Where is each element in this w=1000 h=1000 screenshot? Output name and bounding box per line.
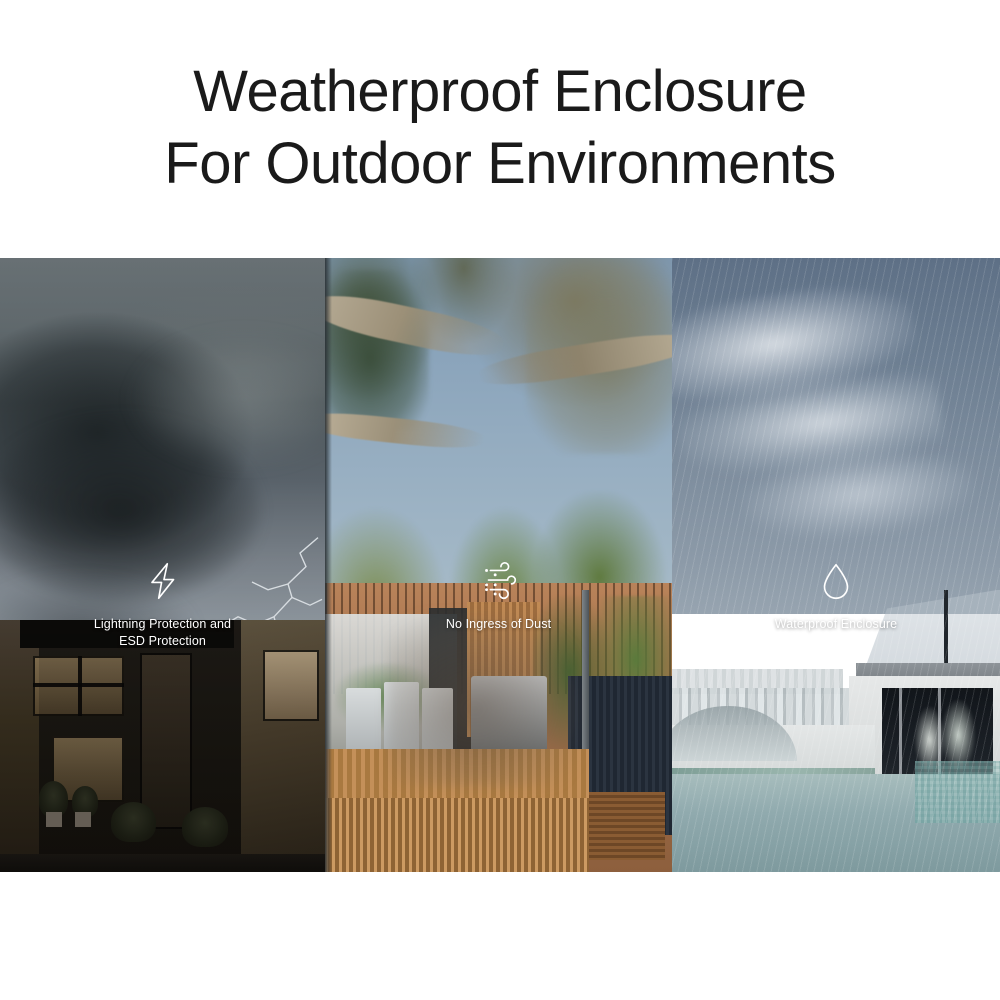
scene-trees-deck — [325, 258, 672, 872]
panel-vignette — [0, 258, 325, 872]
panel-dust-ingress[interactable]: No Ingress of Dust — [325, 258, 672, 872]
panel-left-edge-shadow — [325, 258, 332, 872]
panel-lightning-protection[interactable]: Lightning Protection and ESD Protection — [0, 258, 325, 872]
deck-balustrade-slats — [325, 798, 589, 872]
page-title-line-2: For Outdoor Environments — [0, 128, 1000, 200]
scene-rain-pool — [672, 258, 1000, 872]
page-root: Weatherproof Enclosure For Outdoor Envir… — [0, 0, 1000, 1000]
panel-waterproof-enclosure[interactable]: Waterproof Enclosure — [672, 258, 1000, 872]
page-title: Weatherproof Enclosure For Outdoor Envir… — [0, 56, 1000, 200]
rain-streaks — [672, 258, 1000, 872]
dust-haze-effect — [387, 614, 581, 786]
foliage-left — [325, 270, 429, 430]
scene-storm-building — [0, 258, 325, 872]
timber-planter-box — [589, 792, 665, 860]
page-title-line-1: Weatherproof Enclosure — [0, 56, 1000, 128]
feature-panel-strip: Lightning Protection and ESD Protection — [0, 258, 1000, 872]
